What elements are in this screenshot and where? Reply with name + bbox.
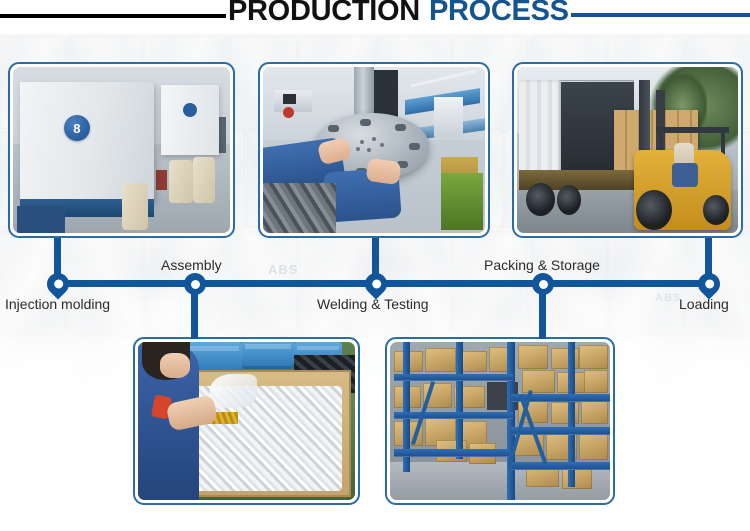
photo-packing-storage-image <box>390 342 610 500</box>
page-title: PRODUCTION PROCESS <box>0 0 750 28</box>
timeline-label-injection-molding: Injection molding <box>5 296 110 312</box>
timeline-node-assembly[interactable] <box>184 273 206 295</box>
title-word-process: PROCESS <box>420 0 569 26</box>
timeline-label-assembly: Assembly <box>161 257 222 273</box>
photo-loading[interactable] <box>512 62 743 238</box>
title-rule-left <box>0 14 226 18</box>
photo-welding-testing-image <box>263 67 485 233</box>
photo-assembly[interactable] <box>133 337 360 505</box>
timeline-label-loading: Loading <box>679 296 729 312</box>
photo-injection-molding-image: 8 <box>13 67 230 233</box>
timeline-label-packing-storage: Packing & Storage <box>484 257 600 273</box>
photo-packing-storage[interactable] <box>385 337 615 505</box>
title-word-production: PRODUCTION <box>226 0 420 26</box>
timeline-label-welding-testing: Welding & Testing <box>317 296 429 312</box>
photo-loading-image <box>517 67 738 233</box>
photo-assembly-image <box>138 342 355 500</box>
photo-injection-molding[interactable]: 8 <box>8 62 235 238</box>
timeline-node-packing-storage[interactable] <box>532 273 554 295</box>
title-rule-right <box>571 13 750 17</box>
machine-number-badge: 8 <box>64 115 90 141</box>
photo-welding-testing[interactable] <box>258 62 490 238</box>
